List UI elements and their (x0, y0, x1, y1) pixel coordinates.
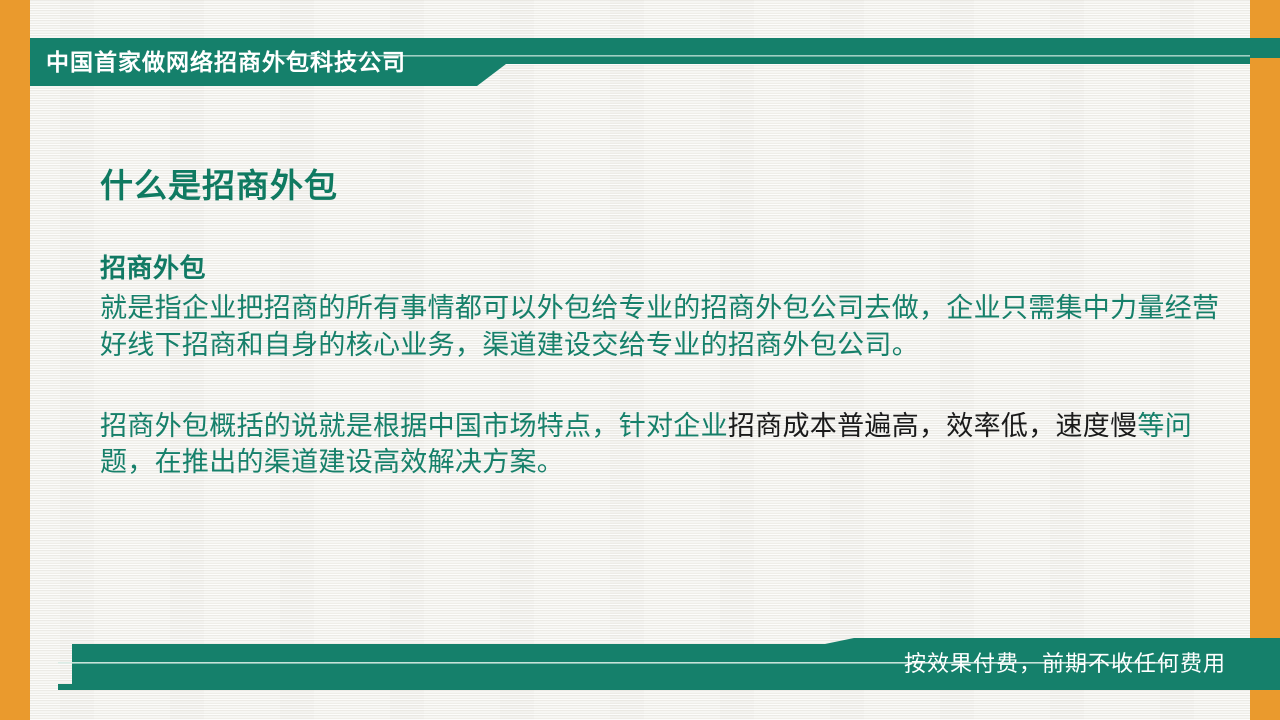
body-paragraph-two: 招商外包概括的说就是根据中国市场特点，针对企业招商成本普遍高，效率低，速度慢等问… (100, 408, 1230, 481)
footer-note: 按效果付费，前期不收任何费用 (904, 645, 1250, 683)
header-title: 中国首家做网络招商外包科技公司 (46, 44, 406, 80)
header-banner-hairline (270, 55, 1250, 57)
slide-body: 什么是招商外包 招商外包 就是指企业把招商的所有事情都可以外包给专业的招商外包公… (100, 168, 1230, 481)
body-paragraph-one: 就是指企业把招商的所有事情都可以外包给专业的招商外包公司去做，企业只需集中力量经… (100, 290, 1230, 363)
body-lead-term: 招商外包 (100, 252, 1230, 286)
paragraph-two-segment-emphasis: 招商成本普遍高，效率低，速度慢 (728, 411, 1138, 441)
slide-canvas: 中国首家做网络招商外包科技公司 按效果付费，前期不收任何费用 什么是招商外包 招… (0, 0, 1280, 720)
page-title: 什么是招商外包 (100, 168, 1230, 204)
paragraph-two-segment-green-a: 招商外包概括的说就是根据中国市场特点，针对企业 (100, 411, 728, 441)
